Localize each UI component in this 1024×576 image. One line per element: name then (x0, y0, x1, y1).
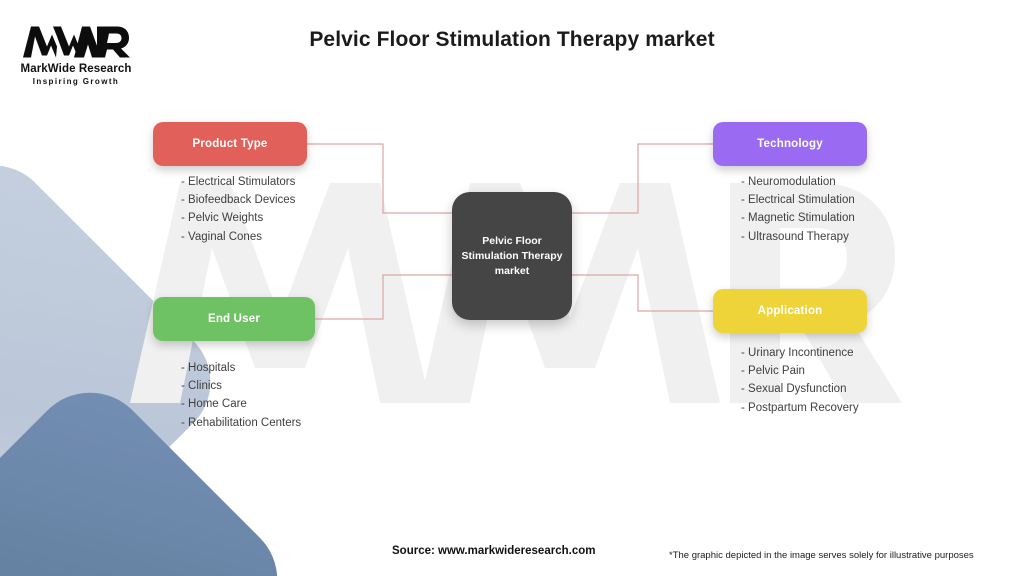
list-item: - Magnetic Stimulation (741, 209, 855, 227)
list-item: - Urinary Incontinence (741, 344, 859, 362)
list-item: - Home Care (181, 395, 301, 413)
infographic-canvas: MarkWide Research Inspiring Growth Pelvi… (0, 0, 1024, 576)
branch-pill-technology[interactable]: Technology (713, 122, 867, 166)
list-item: - Vaginal Cones (181, 228, 295, 246)
list-item: - Electrical Stimulation (741, 191, 855, 209)
list-item: - Pelvic Pain (741, 362, 859, 380)
branch-items-end-user: - Hospitals - Clinics - Home Care - Reha… (181, 359, 301, 432)
branch-items-technology: - Neuromodulation - Electrical Stimulati… (741, 173, 855, 246)
list-item: - Ultrasound Therapy (741, 228, 855, 246)
page-title: Pelvic Floor Stimulation Therapy market (0, 28, 1024, 52)
branch-items-application: - Urinary Incontinence - Pelvic Pain - S… (741, 344, 859, 417)
disclaimer-label: *The graphic depicted in the image serve… (669, 550, 974, 561)
list-item: - Biofeedback Devices (181, 191, 295, 209)
connector-product-type (307, 144, 452, 213)
list-item: - Neuromodulation (741, 173, 855, 191)
list-item: - Rehabilitation Centers (181, 414, 301, 432)
connector-technology (572, 144, 713, 213)
center-node-line-3: market (495, 265, 529, 277)
center-node-label: Pelvic Floor Stimulation Therapy market (454, 234, 571, 279)
branch-label-technology: Technology (757, 138, 823, 150)
branch-label-end-user: End User (208, 313, 260, 325)
center-node-line-1: Pelvic Floor (482, 235, 542, 247)
logo-tagline: Inspiring Growth (16, 77, 136, 86)
connector-application (572, 275, 713, 311)
source-label: Source: www.markwideresearch.com (392, 545, 595, 557)
branch-label-application: Application (758, 305, 823, 317)
center-node-line-2: Stimulation Therapy (462, 250, 563, 262)
list-item: - Electrical Stimulators (181, 173, 295, 191)
branch-pill-application[interactable]: Application (713, 289, 867, 333)
branch-label-product-type: Product Type (192, 138, 267, 150)
list-item: - Sexual Dysfunction (741, 380, 859, 398)
list-item: - Postpartum Recovery (741, 399, 859, 417)
list-item: - Pelvic Weights (181, 209, 295, 227)
list-item: - Clinics (181, 377, 301, 395)
center-node[interactable]: Pelvic Floor Stimulation Therapy market (452, 192, 572, 320)
logo-company-name: MarkWide Research (16, 63, 136, 75)
branch-pill-product-type[interactable]: Product Type (153, 122, 307, 166)
branch-pill-end-user[interactable]: End User (153, 297, 315, 341)
branch-items-product-type: - Electrical Stimulators - Biofeedback D… (181, 173, 295, 246)
list-item: - Hospitals (181, 359, 301, 377)
connector-end-user (315, 275, 452, 319)
